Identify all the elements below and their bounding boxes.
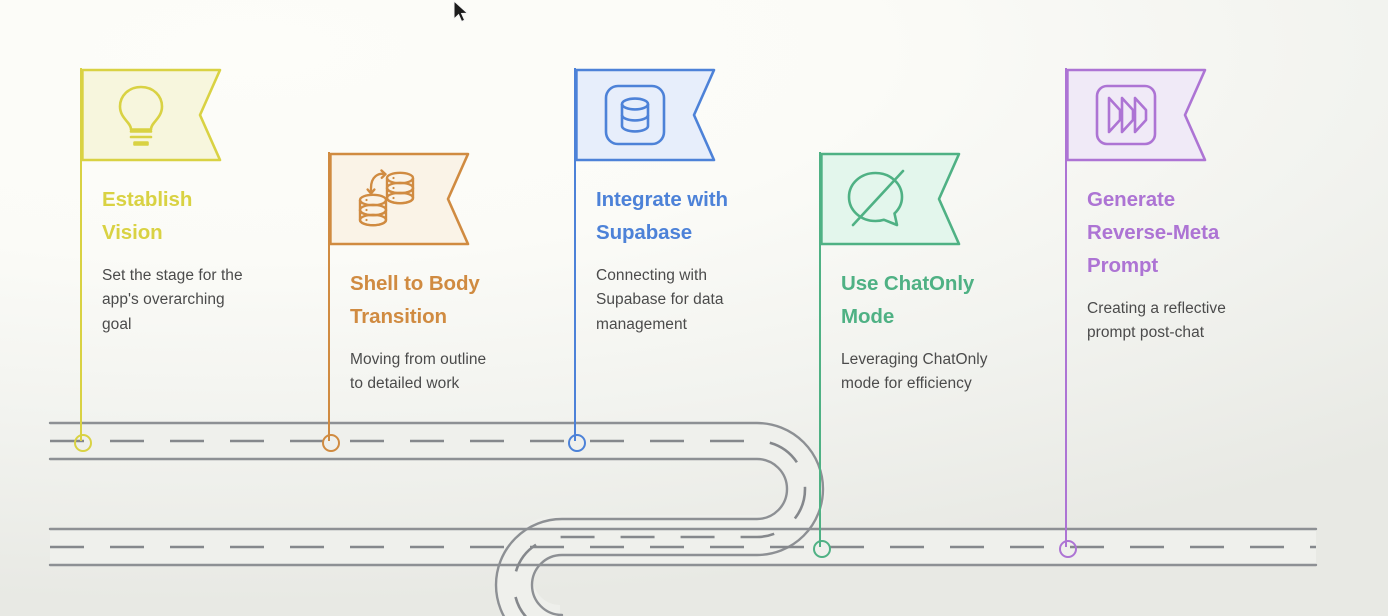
milestone-description: Leveraging ChatOnly mode for efficiency — [841, 348, 1051, 397]
chat-off-icon — [847, 169, 913, 229]
road-marker-establish-vision[interactable] — [74, 434, 92, 452]
milestone-use-chatonly-mode[interactable]: Use ChatOnly ModeLeveraging ChatOnly mod… — [819, 152, 1089, 547]
lightbulb-icon — [110, 82, 172, 148]
milestone-icon-wrap — [329, 152, 449, 246]
milestone-title: Generate Reverse-Meta Prompt — [1087, 184, 1317, 282]
milestone-icon-wrap — [1066, 68, 1186, 162]
milestone-flag[interactable] — [575, 68, 717, 162]
milestone-flag[interactable] — [1066, 68, 1208, 162]
milestone-description: Set the stage for the app's overarching … — [102, 264, 312, 337]
database-sync-icon — [353, 168, 425, 230]
road-marker-shell-to-body-transition[interactable] — [322, 434, 340, 452]
milestone-description: Connecting with Supabase for data manage… — [596, 264, 806, 337]
milestone-title: Shell to Body Transition — [350, 268, 580, 334]
milestone-icon-wrap — [81, 68, 201, 162]
milestone-flag[interactable] — [81, 68, 223, 162]
milestone-shell-to-body-transition[interactable]: Shell to Body TransitionMoving from outl… — [328, 152, 598, 441]
milestone-icon-wrap — [575, 68, 695, 162]
roadmap-diagram: Establish VisionSet the stage for the ap… — [0, 0, 1388, 616]
milestone-title: Integrate with Supabase — [596, 184, 826, 250]
milestone-generate-reverse-meta-prompt[interactable]: Generate Reverse-Meta PromptCreating a r… — [1065, 68, 1335, 547]
milestone-flag[interactable] — [820, 152, 962, 246]
road-marker-generate-reverse-meta-prompt[interactable] — [1059, 540, 1077, 558]
milestone-title: Use ChatOnly Mode — [841, 268, 1071, 334]
milestone-description: Moving from outline to detailed work — [350, 348, 560, 397]
milestone-establish-vision[interactable]: Establish VisionSet the stage for the ap… — [80, 68, 350, 441]
milestone-title: Establish Vision — [102, 184, 332, 250]
database-box-icon — [602, 82, 668, 148]
milestone-flag[interactable] — [329, 152, 471, 246]
triple-chevron-icon — [1093, 82, 1159, 148]
milestone-description: Creating a reflective prompt post-chat — [1087, 297, 1297, 346]
road-marker-use-chatonly-mode[interactable] — [813, 540, 831, 558]
road-marker-integrate-with-supabase[interactable] — [568, 434, 586, 452]
milestone-integrate-with-supabase[interactable]: Integrate with SupabaseConnecting with S… — [574, 68, 844, 441]
milestone-icon-wrap — [820, 152, 940, 246]
